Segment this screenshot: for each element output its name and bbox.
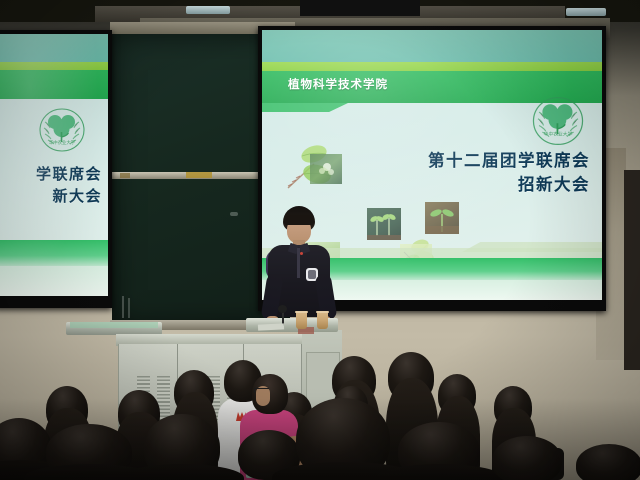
left-slide-band-teal bbox=[0, 34, 108, 62]
ceiling-light-right bbox=[566, 8, 606, 16]
left-slide-title-line1: 学联席会 bbox=[0, 164, 102, 186]
right-door-frame bbox=[624, 170, 640, 370]
slide-title-line1: 第十二届团学联席会 bbox=[378, 150, 590, 174]
presenter-badge-inner bbox=[308, 270, 316, 279]
slide-main-title: 第十二届团学联席会 招新大会 bbox=[378, 150, 590, 198]
thumb-sprout-soil bbox=[425, 202, 459, 234]
thumb-cotton-flower bbox=[310, 154, 342, 184]
chalk-stick-b bbox=[128, 298, 130, 318]
desk-surface-left-inlay bbox=[70, 322, 158, 328]
college-emblem: 华中农业大学 bbox=[529, 92, 587, 150]
audience-head-f7 bbox=[492, 436, 562, 480]
left-slide-band-green bbox=[0, 70, 108, 99]
left-slide-band-lime bbox=[0, 62, 108, 70]
chalk-stick-a bbox=[122, 296, 124, 318]
svg-text:华中农业大学: 华中农业大学 bbox=[49, 139, 76, 146]
slide-title-line2: 招新大会 bbox=[378, 174, 590, 198]
ledge-note-small bbox=[120, 173, 130, 178]
ceiling-projector-box bbox=[300, 0, 420, 16]
slide-band-green-notch bbox=[262, 103, 348, 112]
presenter-fringe bbox=[284, 215, 314, 225]
microphone-icon bbox=[278, 305, 287, 313]
paper-cup-right-rim bbox=[316, 311, 329, 313]
lecture-hall-photo: 华中农业大学 学联席会 新大会 植物科学技术学院 bbox=[0, 0, 640, 480]
college-emblem-left: 华中农业大学 bbox=[36, 104, 88, 156]
left-slide-footer-light bbox=[0, 266, 108, 296]
paper-cup-right bbox=[317, 312, 328, 329]
thumb-seedlings bbox=[367, 208, 401, 240]
chalk-smudge-a bbox=[230, 212, 238, 216]
audience-head-f8 bbox=[576, 444, 640, 480]
left-slide-title: 学联席会 新大会 bbox=[0, 164, 102, 208]
paper-cup-left bbox=[296, 312, 307, 329]
audience-rows bbox=[0, 352, 640, 480]
ceiling-light-left bbox=[186, 6, 230, 14]
left-slide-footer-band bbox=[0, 240, 108, 266]
lapel-mic-icon bbox=[300, 252, 303, 255]
slide-band-lime bbox=[262, 62, 602, 71]
glasses-icon bbox=[254, 388, 269, 393]
ledge-note-yellow bbox=[186, 172, 212, 178]
left-projected-slide: 华中农业大学 学联席会 新大会 bbox=[0, 34, 108, 296]
paper-cup-left-rim bbox=[295, 311, 308, 313]
slide-band-teal bbox=[262, 30, 602, 62]
svg-text:华中农业大学: 华中农业大学 bbox=[544, 131, 573, 138]
slide-footer-ramp-right bbox=[450, 242, 602, 252]
slide-header-text: 植物科学技术学院 bbox=[288, 76, 388, 92]
left-slide-title-line2: 新大会 bbox=[0, 186, 102, 208]
